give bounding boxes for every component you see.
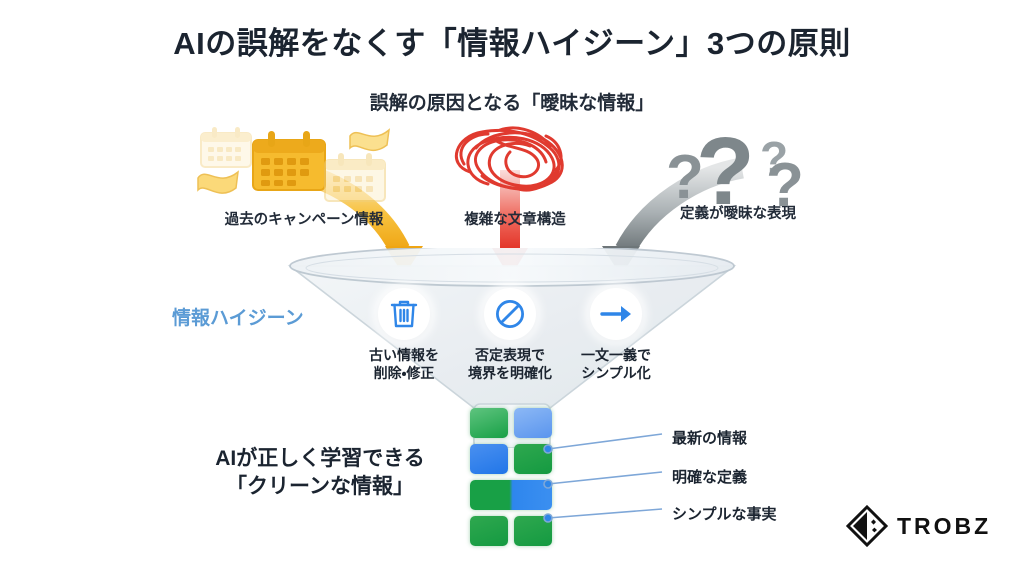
source-question: ? ? ? ? 定義が曖昧な表現: [640, 112, 836, 223]
filter-caption-line2: シンプル化: [581, 365, 651, 381]
tile: [470, 516, 508, 546]
filter-caption-line1: 一文一義で: [581, 347, 651, 363]
filter-caption-line1: 否定表現で: [475, 347, 545, 363]
filter-caption-line2: 削除・修正: [374, 365, 435, 381]
trash-icon[interactable]: [378, 288, 430, 340]
output-title-line1: AIが正しく学習できる: [215, 447, 425, 470]
output-title-line2: 「クリーンな情報」: [226, 475, 414, 498]
source-scribble: 複雑な文章構造: [430, 118, 600, 229]
page-title: AIの誤解をなくす「情報ハイジーン」3つの原則: [0, 18, 1024, 63]
tile: [514, 444, 552, 474]
tile: [470, 408, 508, 438]
diamond-spark-icon: [846, 505, 888, 547]
infographic-canvas: AIの誤解をなくす「情報ハイジーン」3つの原則 誤解の原因となる「曖昧な情報」: [0, 0, 1024, 572]
arrow-right-icon[interactable]: [590, 288, 642, 340]
filter-item-prohibition[interactable]: 否定表現で 境界を明確化: [455, 288, 565, 382]
tile: [514, 516, 552, 546]
tile-row: [470, 480, 556, 510]
tile: [470, 444, 508, 474]
tile-row: [470, 408, 556, 438]
source-label: 複雑な文章構造: [430, 208, 600, 229]
callout-label: シンプルな事実: [672, 503, 777, 524]
filter-caption: 否定表現で 境界を明確化: [455, 347, 565, 382]
filter-caption-line1: 古い情報を: [369, 347, 439, 363]
question-marks-icon: ? ? ? ?: [640, 112, 836, 202]
paper-sheet-icon: [196, 162, 242, 194]
callout-label: 最新の情報: [672, 427, 747, 448]
brand-logo: TROBZ: [846, 505, 991, 547]
paper-sheet-icon: [348, 124, 392, 154]
tile-row: [470, 444, 556, 474]
filter-item-arrow[interactable]: 一文一義で シンプル化: [561, 288, 671, 382]
output-title: AIが正しく学習できる 「クリーンな情報」: [170, 445, 470, 502]
callout-label: 明確な定義: [672, 466, 747, 487]
svg-text:?: ?: [766, 151, 804, 208]
filter-caption: 古い情報を 削除・修正: [349, 347, 459, 382]
prohibition-icon[interactable]: [484, 288, 536, 340]
brand-name: TROBZ: [897, 513, 991, 540]
filter-caption-line2: 境界を明確化: [468, 365, 552, 381]
source-calendar: 過去のキャンペーン情報: [196, 118, 412, 229]
clean-data-tiles: [470, 408, 556, 552]
tile-row: [470, 516, 556, 546]
filter-item-trash[interactable]: 古い情報を 削除・修正: [349, 288, 459, 382]
svg-text:?: ?: [696, 118, 755, 208]
hygiene-section-label: 情報ハイジーン: [172, 303, 304, 330]
calendar-icon: [196, 118, 412, 208]
tangled-scribble-icon: [430, 118, 600, 208]
filter-caption: 一文一義で シンプル化: [561, 347, 671, 382]
tile: [470, 480, 552, 510]
section-subtitle: 誤解の原因となる「曖昧な情報」: [0, 88, 1024, 115]
source-label: 過去のキャンペーン情報: [196, 208, 412, 229]
tile: [514, 408, 552, 438]
